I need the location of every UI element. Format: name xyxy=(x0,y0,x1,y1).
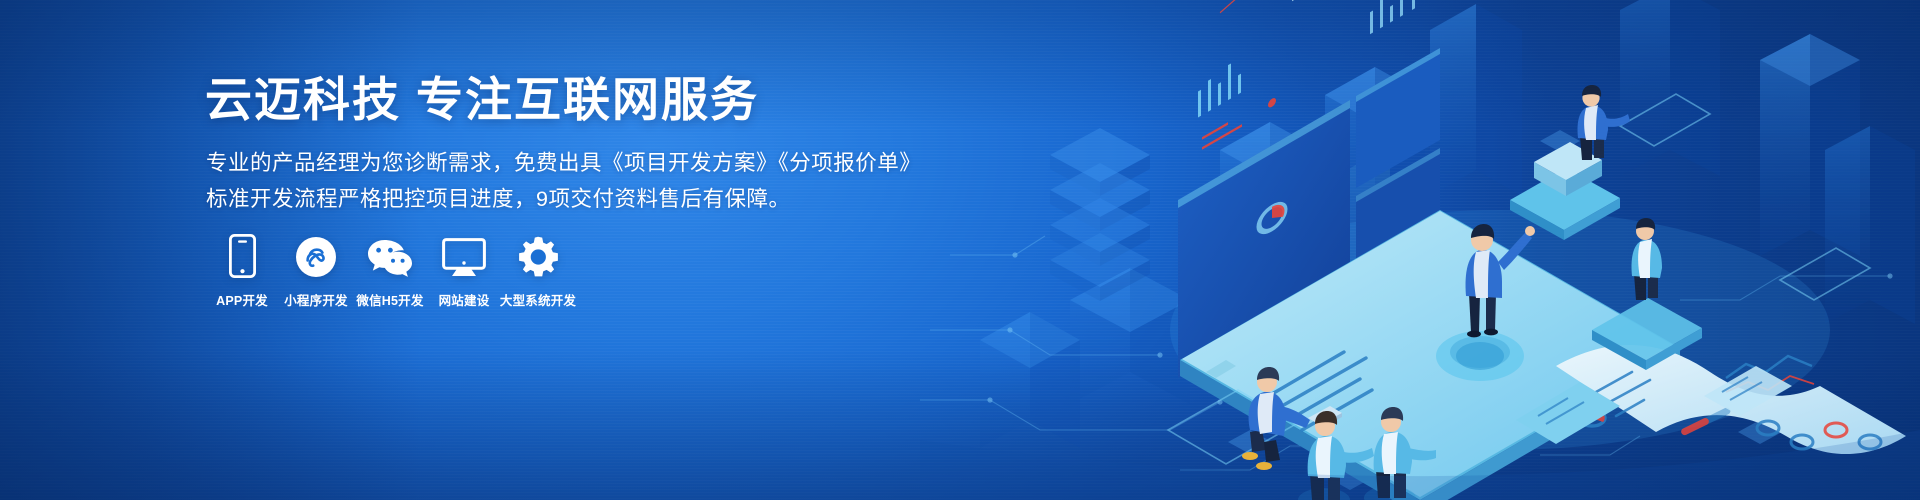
banner-content: 云迈科技 专注互联网服务 专业的产品经理为您诊断需求，免费出具《项目开发方案》《… xyxy=(205,0,925,500)
isometric-tech-dashboard-illustration xyxy=(920,0,1920,500)
subtitle-line-1: 专业的产品经理为您诊断需求，免费出具《项目开发方案》《分项报价单》 xyxy=(206,146,921,177)
service-label-app: APP开发 xyxy=(216,290,268,309)
hero-banner: 云迈科技 专注互联网服务 专业的产品经理为您诊断需求，免费出具《项目开发方案》《… xyxy=(0,0,1920,500)
service-item-mini-program[interactable]: 小程序开发 xyxy=(281,232,351,309)
service-label-large-system: 大型系统开发 xyxy=(500,290,576,309)
subtitle-line-2: 标准开发流程严格把控项目进度，9项交付资料售后有保障。 xyxy=(206,182,790,213)
mobile-phone-icon xyxy=(229,232,256,278)
page-title: 云迈科技 专注互联网服务 xyxy=(205,74,759,126)
service-item-website[interactable]: 网站建设 xyxy=(429,232,499,309)
service-label-wechat-h5: 微信H5开发 xyxy=(356,290,423,309)
service-label-website: 网站建设 xyxy=(439,290,490,309)
wechat-icon xyxy=(366,232,414,278)
service-item-app[interactable]: APP开发 xyxy=(207,232,277,309)
service-item-wechat-h5[interactable]: 微信H5开发 xyxy=(355,232,425,309)
service-item-large-system[interactable]: 大型系统开发 xyxy=(503,232,573,309)
service-icon-list: APP开发 小程序开发 xyxy=(207,232,577,309)
monitor-icon xyxy=(442,232,486,278)
service-label-mini-program: 小程序开发 xyxy=(284,290,348,309)
gear-icon xyxy=(517,232,559,278)
mini-program-icon xyxy=(295,232,337,278)
